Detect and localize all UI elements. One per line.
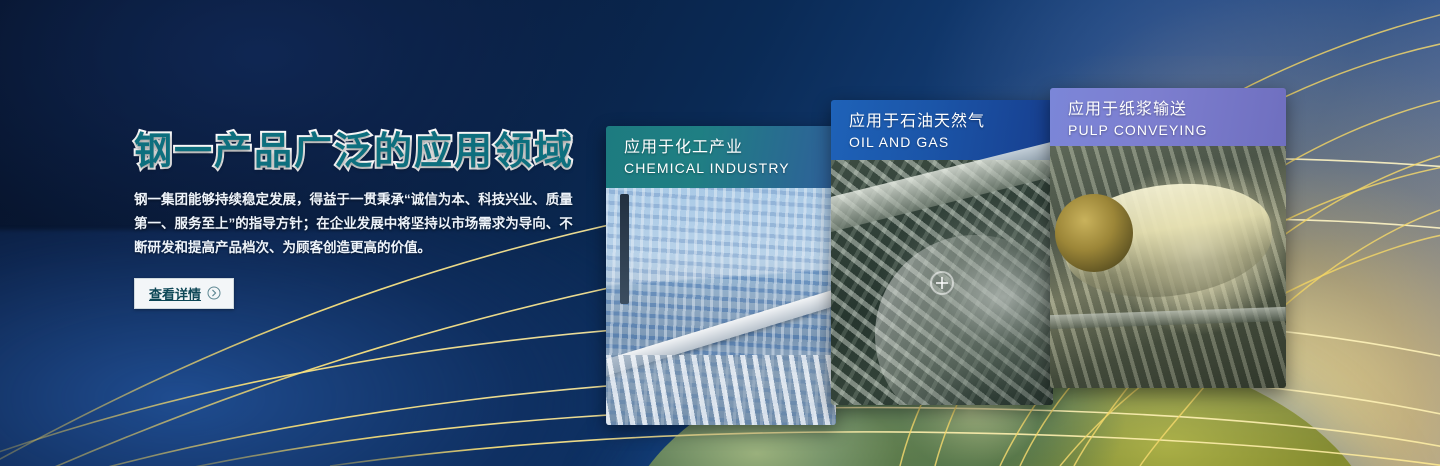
card-title-cn: 应用于石油天然气: [849, 111, 1053, 133]
card-image-chemical[interactable]: [606, 188, 836, 425]
view-details-label: 查看详情: [149, 284, 201, 303]
card-title-en: CHEMICAL INDUSTRY: [624, 159, 836, 178]
smokestack-shape: [620, 194, 629, 304]
hero-description: 钢一集团能够持续稳定发展，得益于一贯秉承“诚信为本、科技兴业、质量第一、服务至上…: [134, 188, 586, 260]
hero-banner: 钢一产品广泛的应用领域 钢一集团能够持续稳定发展，得益于一贯秉承“诚信为本、科技…: [0, 0, 1440, 466]
machine-rail-shape: [1050, 307, 1286, 329]
application-card-oilgas[interactable]: 应用于石油天然气 OIL AND GAS: [831, 100, 1053, 405]
application-card-chemical[interactable]: 应用于化工产业 CHEMICAL INDUSTRY: [606, 126, 836, 425]
large-vessel-shape: [875, 235, 1053, 405]
page-title: 钢一产品广泛的应用领域: [134, 132, 604, 172]
roller-hub-shape: [1055, 194, 1133, 272]
card-caption-pulp: 应用于纸浆输送 PULP CONVEYING: [1050, 88, 1286, 146]
card-title-en: PULP CONVEYING: [1068, 121, 1286, 140]
application-card-pulp[interactable]: 应用于纸浆输送 PULP CONVEYING: [1050, 88, 1286, 388]
card-caption-chemical: 应用于化工产业 CHEMICAL INDUSTRY: [606, 126, 836, 188]
chevron-right-circle-icon: [207, 286, 221, 300]
hero-copy: 钢一产品广泛的应用领域 钢一集团能够持续稳定发展，得益于一贯秉承“诚信为本、科技…: [134, 132, 604, 309]
card-title-cn: 应用于化工产业: [624, 137, 836, 159]
card-image-pulp[interactable]: [1050, 146, 1286, 388]
plus-circle-icon[interactable]: [930, 271, 954, 295]
pipe-bundle-shape: [606, 355, 836, 425]
card-title-cn: 应用于纸浆输送: [1068, 99, 1286, 121]
card-image-oilgas[interactable]: [831, 160, 1053, 405]
view-details-button[interactable]: 查看详情: [134, 278, 234, 309]
